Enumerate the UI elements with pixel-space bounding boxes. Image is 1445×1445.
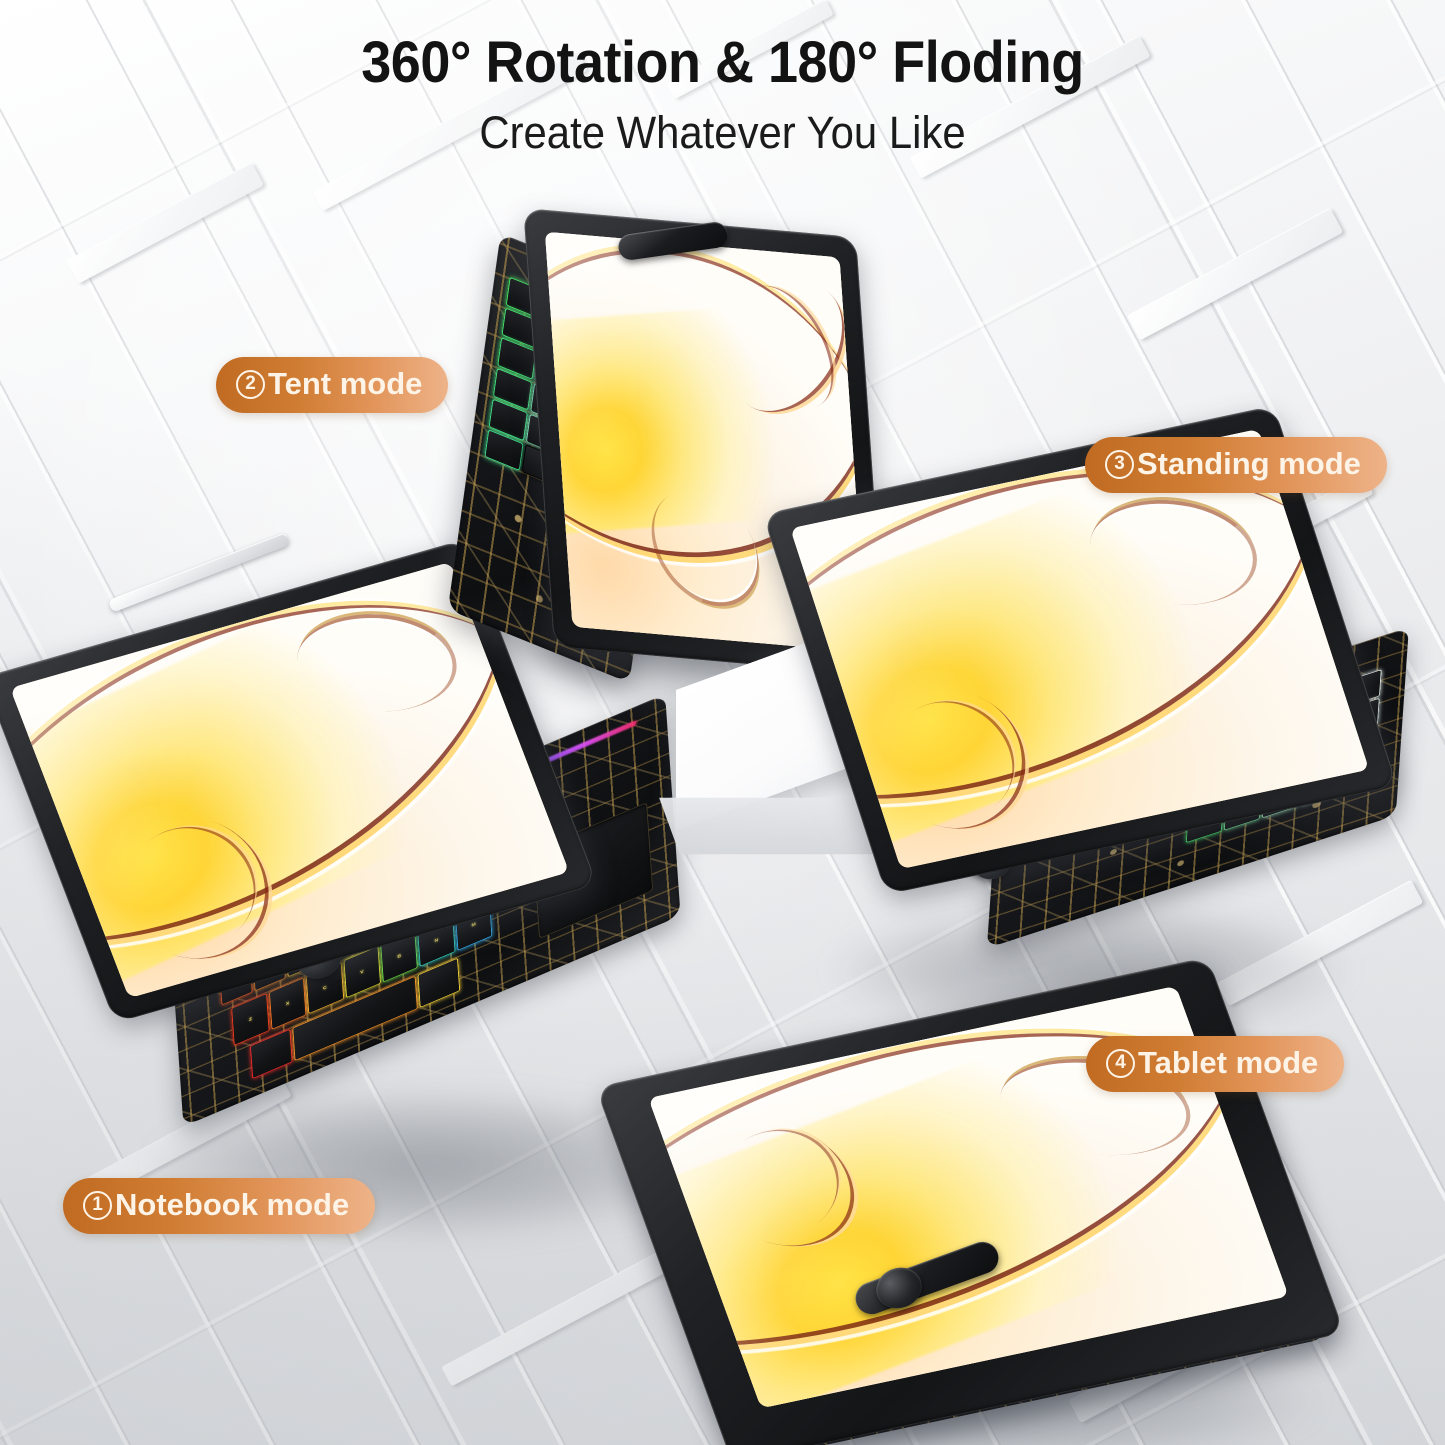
badge-standing-mode[interactable]: 3 Standing mode (1085, 437, 1387, 493)
badge-number-3: 3 (1105, 450, 1134, 479)
badge-notebook-mode[interactable]: 1 Notebook mode (63, 1178, 375, 1234)
page-title: 360° Rotation & 180° Floding (51, 32, 1395, 93)
wallpaper-abstract-ribbon (790, 429, 1369, 869)
badge-tablet-mode[interactable]: 4 Tablet mode (1086, 1036, 1344, 1092)
badge-label-standing: Standing mode (1137, 446, 1361, 482)
header: 360° Rotation & 180° Floding Create What… (0, 0, 1445, 159)
badge-label-notebook: Notebook mode (115, 1187, 349, 1223)
standing-screen[interactable] (790, 429, 1369, 869)
page-subtitle: Create Whatever You Like (51, 107, 1395, 159)
badge-number-2: 2 (236, 370, 265, 399)
badge-number-4: 4 (1106, 1049, 1135, 1078)
badge-number-1: 1 (83, 1191, 112, 1220)
product-marketing-image: Q W E R T Y U I O P A S D F G H J K L (0, 0, 1445, 1445)
badge-tent-mode[interactable]: 2 Tent mode (216, 357, 448, 413)
badge-label-tent: Tent mode (268, 366, 422, 402)
badge-label-tablet: Tablet mode (1138, 1045, 1318, 1081)
